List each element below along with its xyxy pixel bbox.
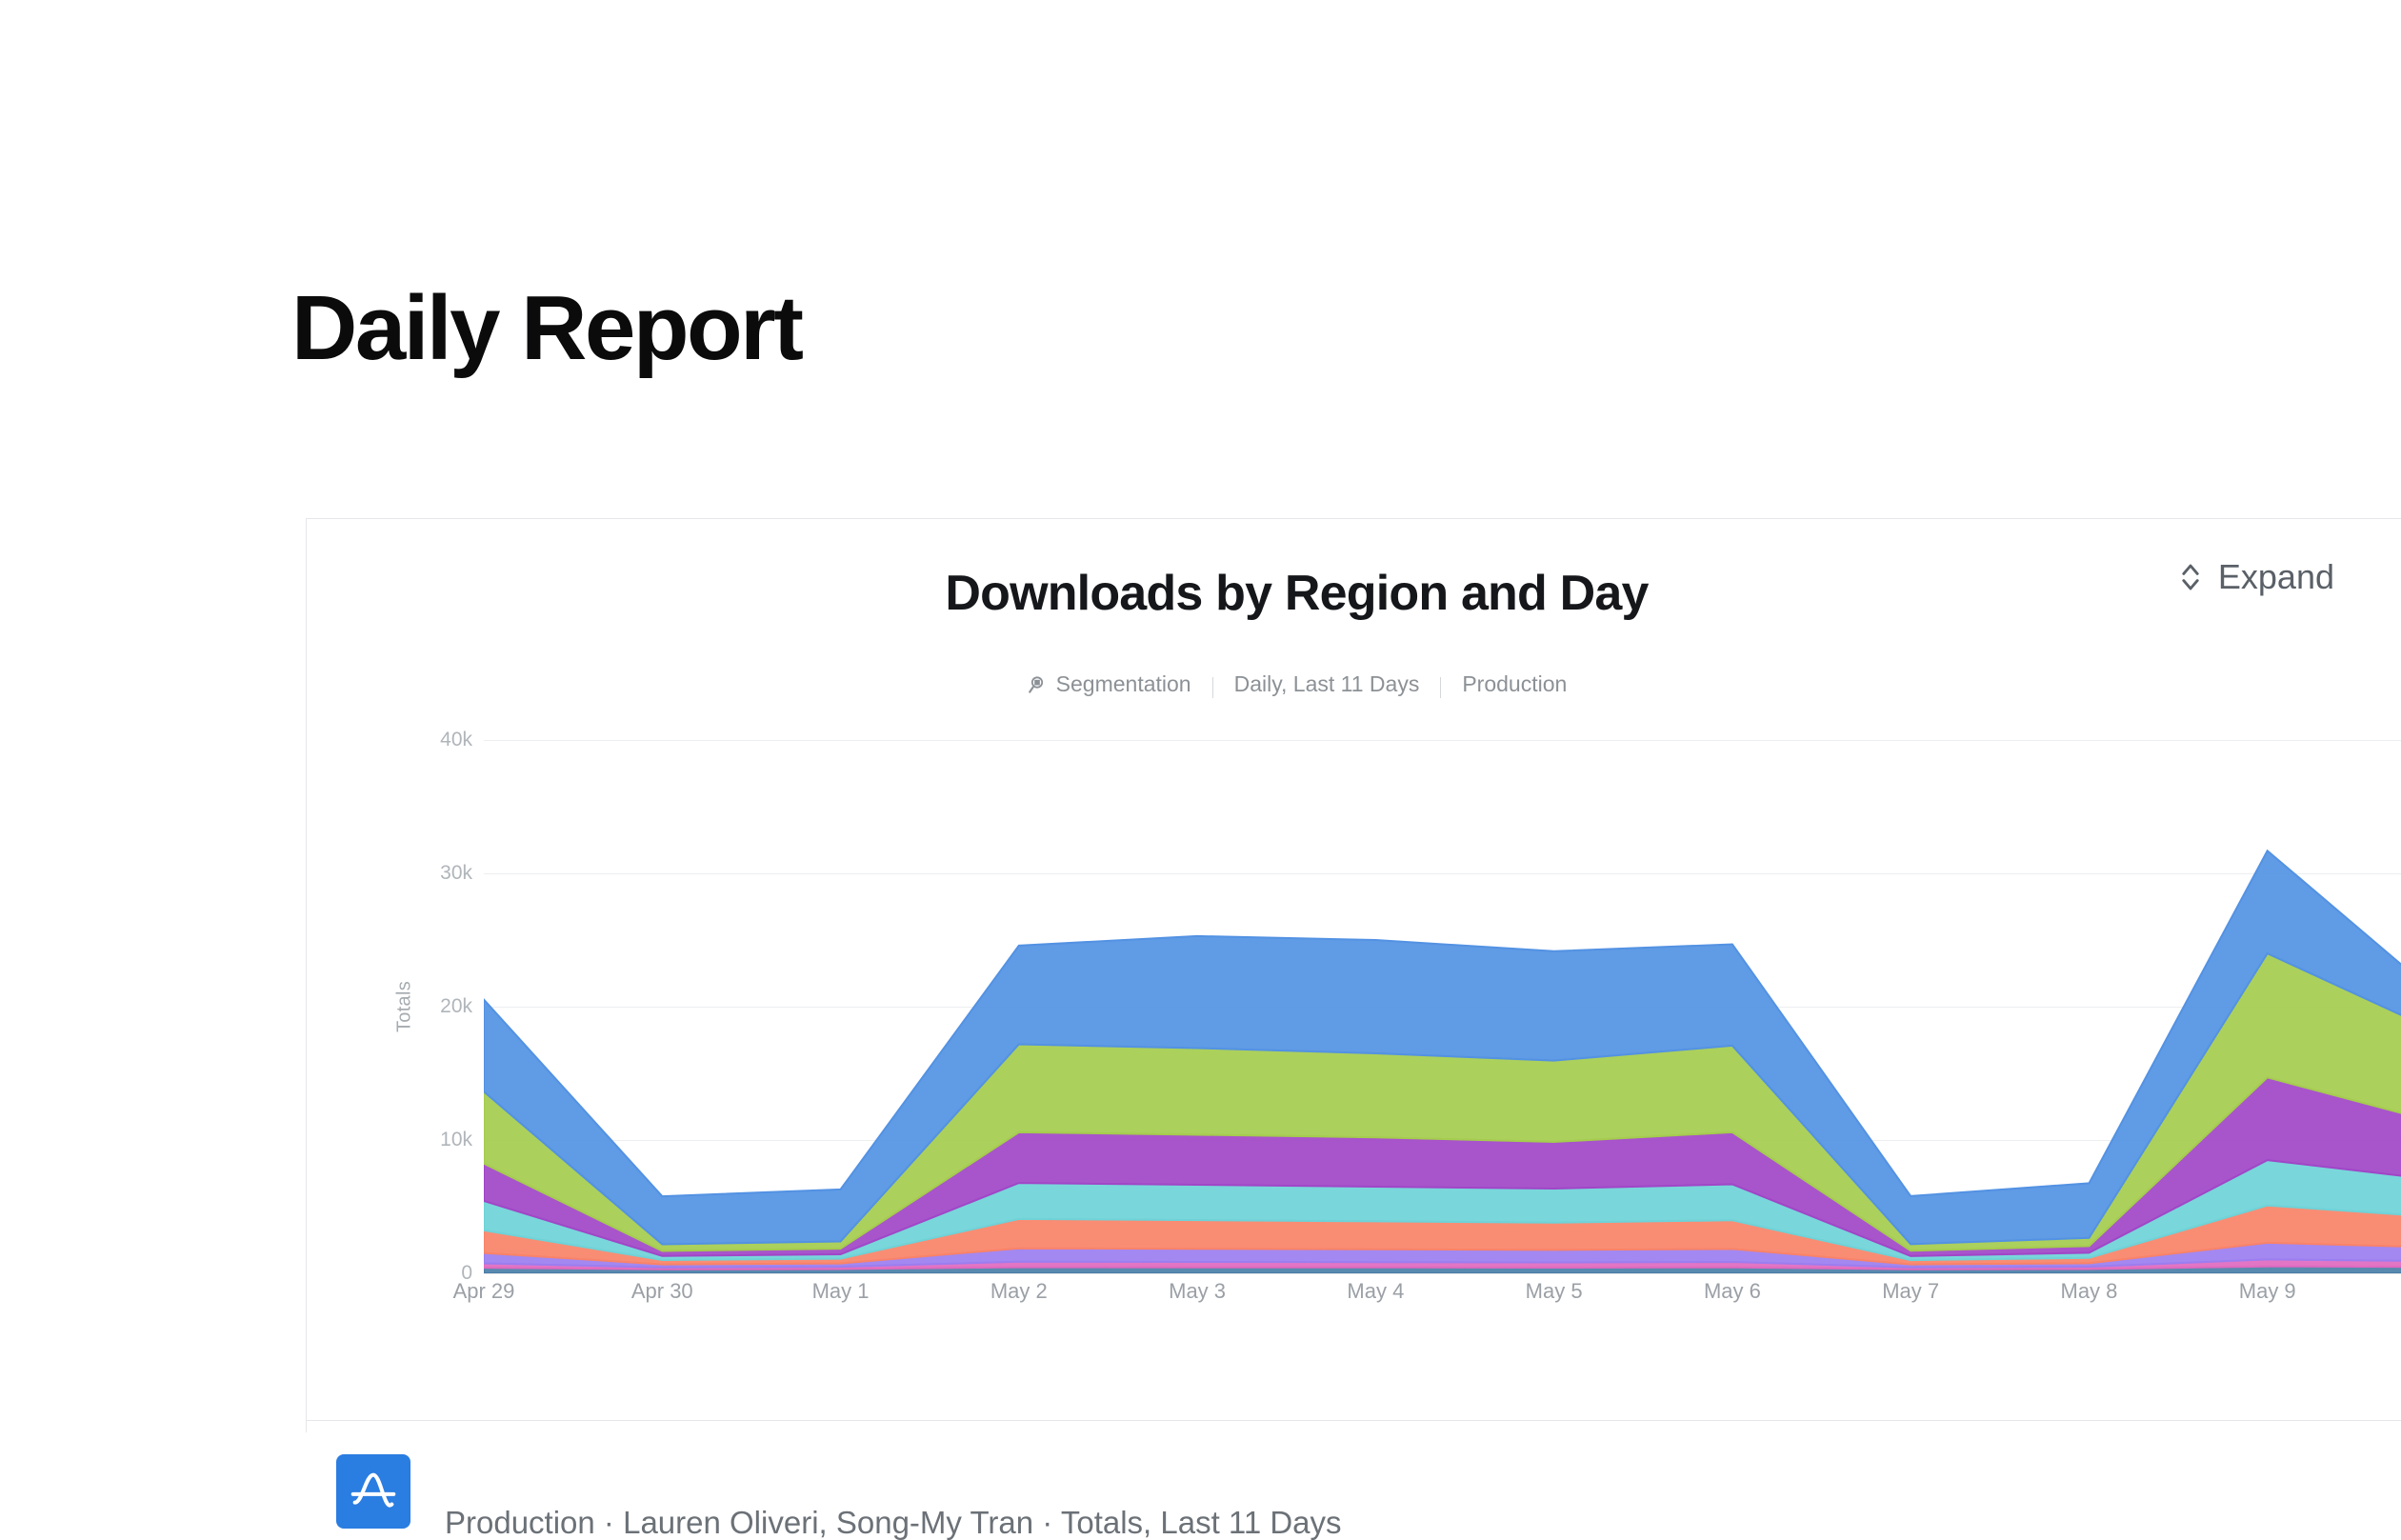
x-axis-tick-label: May 9 xyxy=(2239,1279,2296,1304)
segmentation-group: Segmentation xyxy=(1027,671,1191,697)
x-axis-tick-label: May 8 xyxy=(2060,1279,2117,1304)
x-axis-tick-label: May 5 xyxy=(1526,1279,1583,1304)
subtitle-environment-label: Production xyxy=(1462,671,1567,697)
gridline xyxy=(484,1273,2401,1274)
page-root: Daily Report Downloads by Region and Day… xyxy=(0,0,2401,1540)
x-axis-tick-label: Apr 29 xyxy=(453,1279,515,1304)
segmentation-icon xyxy=(1027,674,1048,695)
expand-chevrons-icon xyxy=(2176,560,2205,594)
segmentation-label: Segmentation xyxy=(1056,671,1191,697)
x-axis-tick-label: May 3 xyxy=(1169,1279,1226,1304)
y-axis-tick-label: 30k xyxy=(440,862,472,885)
subtitle-range-label: Daily, Last 11 Days xyxy=(1234,671,1420,697)
amplitude-logo-icon xyxy=(336,1454,410,1529)
expand-button[interactable]: Expand xyxy=(2176,557,2334,597)
x-axis-tick-label: May 2 xyxy=(990,1279,1048,1304)
x-axis-tick-label: May 7 xyxy=(1882,1279,1939,1304)
chart-subtitle: Segmentation Daily, Last 11 Days Product… xyxy=(307,671,2401,697)
subtitle-divider-1 xyxy=(1212,677,1213,698)
expand-label: Expand xyxy=(2218,557,2334,597)
x-axis-labels: Apr 29Apr 30May 1May 2May 3May 4May 5May… xyxy=(484,1279,2401,1317)
y-axis-labels: 010k20k30k40k xyxy=(410,740,472,1273)
x-axis-tick-label: May 4 xyxy=(1347,1279,1404,1304)
page-title: Daily Report xyxy=(291,283,801,374)
y-axis-tick-label: 20k xyxy=(440,995,472,1018)
footer-text: Production · Lauren Oliveri, Song-My Tra… xyxy=(445,1505,1342,1540)
y-axis-tick-label: 10k xyxy=(440,1129,472,1151)
stacked-area-series xyxy=(484,740,2401,1273)
subtitle-divider-2 xyxy=(1440,677,1441,698)
x-axis-tick-label: May 6 xyxy=(1704,1279,1761,1304)
chart-card: Downloads by Region and Day Segmentation… xyxy=(306,518,2401,1432)
chart-title: Downloads by Region and Day xyxy=(307,565,2401,622)
chart-plot-area[interactable]: Totals 010k20k30k40k Apr 29Apr 30May 1Ma… xyxy=(484,740,2401,1273)
x-axis-tick-label: Apr 30 xyxy=(631,1279,693,1304)
y-axis-tick-label: 40k xyxy=(440,729,472,751)
card-footer: Production · Lauren Oliveri, Song-My Tra… xyxy=(307,1421,2401,1535)
x-axis-tick-label: May 1 xyxy=(812,1279,870,1304)
